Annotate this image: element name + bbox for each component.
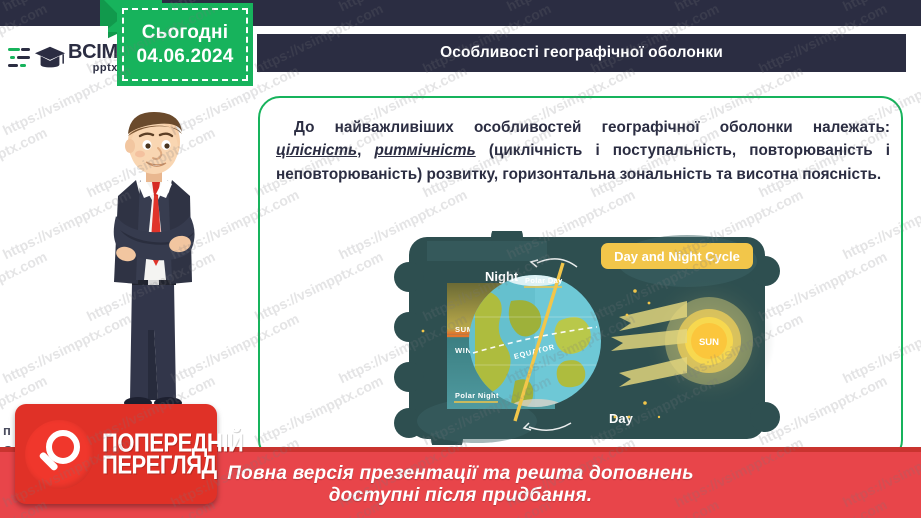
magnifier-icon <box>25 420 94 489</box>
svg-text:Polar Night: Polar Night <box>455 391 499 400</box>
day-night-cycle-infographic: SUN SUMMER WINTER <box>387 231 787 445</box>
page-title: Особливості географічної оболонки <box>440 44 723 62</box>
content-panel: До найважливіших особливостей географічн… <box>258 96 903 462</box>
svg-text:Polar Day: Polar Day <box>525 276 563 285</box>
brand-suffix: pptx <box>93 63 118 74</box>
emphasis-term-1: цілісність <box>276 142 357 159</box>
infographic-svg: SUN SUMMER WINTER <box>387 231 787 445</box>
preview-button[interactable]: ПОПЕРЕДНІЙ ПЕРЕГЛЯД <box>15 404 217 504</box>
infographic-title: Day and Night Cycle <box>614 249 740 264</box>
night-label: Night <box>485 269 519 284</box>
date-badge: Сьогодні 04.06.2024 <box>117 3 253 86</box>
businessman-illustration <box>92 104 214 424</box>
paragraph-separator: , <box>357 142 374 159</box>
preview-button-label: ПОПЕРЕДНІЙ ПЕРЕГЛЯД <box>102 432 243 476</box>
brand-logo[interactable]: BCIM pptx <box>8 34 108 82</box>
sun-label: SUN <box>699 337 719 348</box>
brand-name: BCIM <box>68 42 118 62</box>
date-label: Сьогодні <box>142 22 228 44</box>
infographic-title-pill: Day and Night Cycle <box>601 243 753 269</box>
speed-lines-icon <box>8 43 30 73</box>
slide-root: BCIM pptx Сьогодні 04.06.2024 Особливост… <box>0 0 921 518</box>
emphasis-term-2: ритмічність <box>374 142 475 159</box>
footer-line-2: доступні після придбання. <box>329 485 593 507</box>
footer-line-1: Повна версія презентації та решта доповн… <box>227 463 693 485</box>
preview-line-2: ПЕРЕГЛЯД <box>102 452 243 478</box>
day-label: Day <box>609 411 634 426</box>
brand-text: BCIM pptx <box>68 42 118 74</box>
body-paragraph: До найважливіших особливостей географічн… <box>276 116 890 186</box>
title-bar: Особливості географічної оболонки <box>257 34 906 72</box>
date-value: 04.06.2024 <box>136 46 233 68</box>
graduation-cap-icon <box>34 43 64 73</box>
paragraph-part-1: До найважливіших особливостей географічн… <box>294 119 890 136</box>
